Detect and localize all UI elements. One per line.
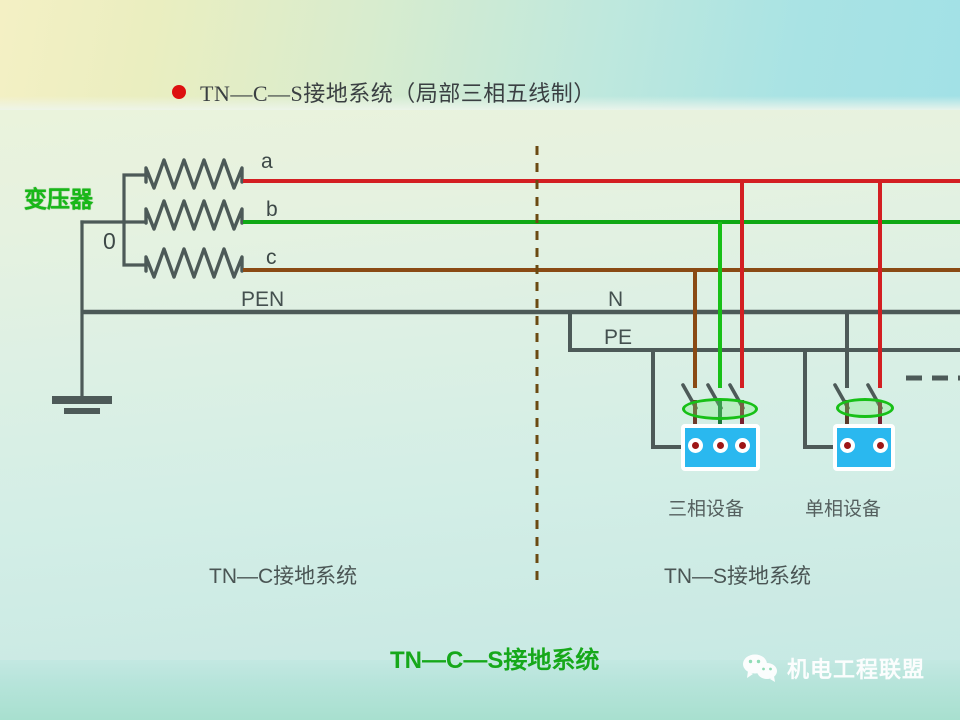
three-phase-terminal-2 <box>713 438 728 453</box>
main-caption: TN—C—S接地系统 <box>390 640 599 675</box>
transformer-coil-icon <box>146 160 242 277</box>
watermark-text: 机电工程联盟 <box>787 652 925 684</box>
bus-label-pe: PE <box>604 326 632 350</box>
phase-label-a: a <box>261 150 273 174</box>
three-phase-drop-wires <box>695 181 742 388</box>
single-phase-terminal-2 <box>873 438 888 453</box>
three-phase-terminal-3 <box>735 438 750 453</box>
device-label-single-phase: 单相设备 <box>805 494 881 521</box>
neutral-point-label: 0 <box>103 228 116 255</box>
phase-label-c: c <box>266 246 277 270</box>
current-toroid-icon <box>682 398 758 420</box>
wiring-diagram-svg <box>0 0 960 720</box>
wechat-logo-icon <box>742 653 778 683</box>
bus-label-n: N <box>608 288 623 312</box>
device-label-three-phase: 三相设备 <box>668 494 744 521</box>
transformer-label: 变压器 <box>24 180 93 214</box>
phase-label-b: b <box>266 198 278 222</box>
single-phase-drop-wires <box>847 181 880 388</box>
zone-label-tn-c: TN—C接地系统 <box>209 560 357 590</box>
current-toroid-icon-single <box>836 398 894 418</box>
slide-root: TN—C—S接地系统（局部三相五线制） <box>0 0 960 720</box>
three-phase-terminal-1 <box>688 438 703 453</box>
watermark: 机电工程联盟 <box>742 652 925 684</box>
phase-bus-lines <box>243 181 960 270</box>
single-phase-terminal-1 <box>840 438 855 453</box>
zone-label-tn-s: TN—S接地系统 <box>664 560 811 590</box>
ground-symbol-icon <box>52 400 112 411</box>
bus-label-pen: PEN <box>241 288 284 312</box>
